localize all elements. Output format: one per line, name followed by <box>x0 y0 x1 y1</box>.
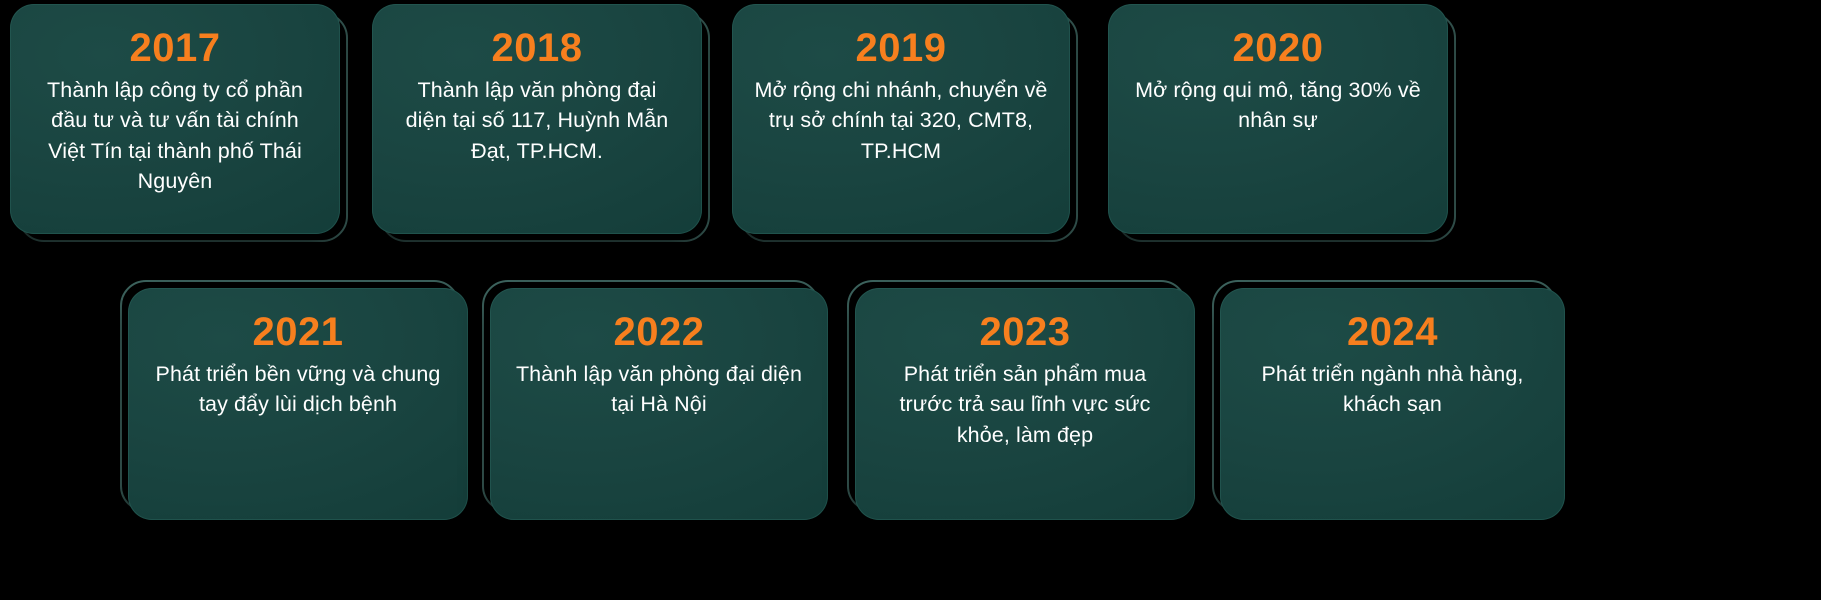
milestone-year: 2024 <box>1347 310 1438 355</box>
milestone-year: 2017 <box>130 26 221 71</box>
timeline-infographic: 2017 Thành lập công ty cổ phần đầu tư và… <box>0 0 1821 600</box>
milestone-description: Thành lập văn phòng đại diện tại số 117,… <box>397 75 677 167</box>
milestone-description: Phát triển bền vững và chung tay đẩy lùi… <box>148 359 448 420</box>
milestone-card-2021[interactable]: 2021 Phát triển bền vững và chung tay đẩ… <box>128 288 468 520</box>
milestone-description: Thành lập công ty cổ phần đầu tư và tư v… <box>30 75 320 197</box>
milestone-year: 2019 <box>856 26 947 71</box>
milestone-year: 2020 <box>1233 26 1324 71</box>
milestone-year: 2021 <box>253 310 344 355</box>
milestone-description: Mở rộng qui mô, tăng 30% về nhân sự <box>1128 75 1428 136</box>
milestone-description: Phát triển ngành nhà hàng, khách sạn <box>1240 359 1545 420</box>
milestone-card-2019[interactable]: 2019 Mở rộng chi nhánh, chuyển về trụ sở… <box>732 4 1070 234</box>
milestone-card-2020[interactable]: 2020 Mở rộng qui mô, tăng 30% về nhân sự <box>1108 4 1448 234</box>
milestone-year: 2018 <box>492 26 583 71</box>
milestone-card-2017[interactable]: 2017 Thành lập công ty cổ phần đầu tư và… <box>10 4 340 234</box>
milestone-card-2018[interactable]: 2018 Thành lập văn phòng đại diện tại số… <box>372 4 702 234</box>
milestone-card-2024[interactable]: 2024 Phát triển ngành nhà hàng, khách sạ… <box>1220 288 1565 520</box>
milestone-card-2022[interactable]: 2022 Thành lập văn phòng đại diện tại Hà… <box>490 288 828 520</box>
milestone-description: Mở rộng chi nhánh, chuyển về trụ sở chín… <box>752 75 1050 167</box>
milestone-year: 2022 <box>614 310 705 355</box>
milestone-description: Phát triển sản phẩm mua trước trả sau lĩ… <box>880 359 1170 451</box>
milestone-description: Thành lập văn phòng đại diện tại Hà Nội <box>515 359 803 420</box>
milestone-card-2023[interactable]: 2023 Phát triển sản phẩm mua trước trả s… <box>855 288 1195 520</box>
milestone-year: 2023 <box>980 310 1071 355</box>
